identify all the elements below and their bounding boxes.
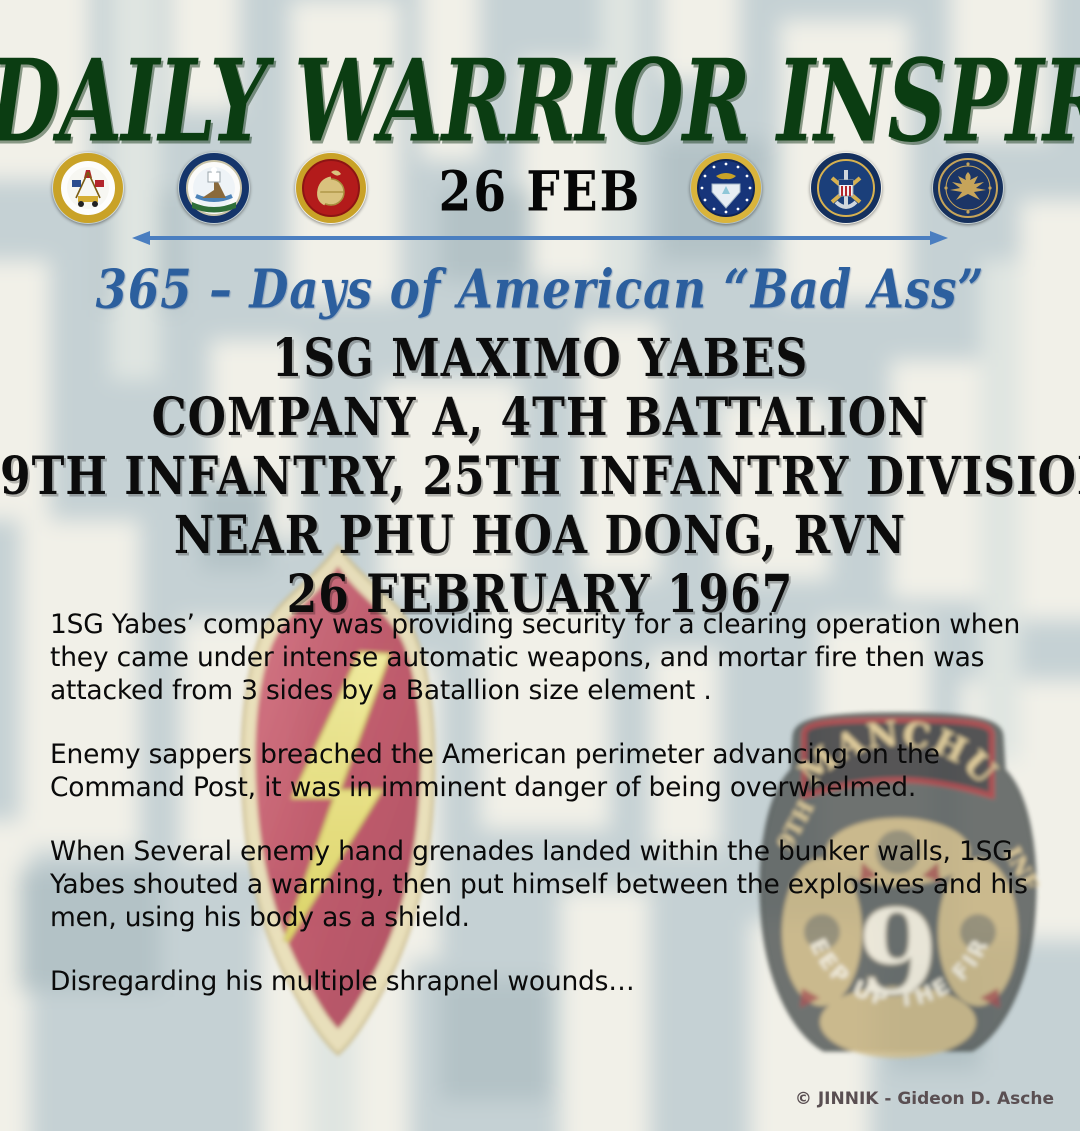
narrative-paragraph-3: When Several enemy hand grenades landed … [50,835,1050,934]
honoree-line-name: 1SG MAXIMO YABES [0,330,1080,389]
divider-double-arrow [132,228,948,248]
honoree-line-location: NEAR PHU HOA DONG, RVN [0,507,1080,566]
date-label: 26 FEB [0,160,1080,225]
page-title: DAILY WARRIOR INSPIRATION [0,44,1080,158]
honoree-line-division: 9TH INFANTRY, 25TH INFANTRY DIVISION [0,448,1080,507]
subtitle-series: 365 – Days of American “Bad Ass” [0,258,1080,321]
narrative-body: 1SG Yabes’ company was providing securit… [50,608,1050,998]
narrative-paragraph-4: Disregarding his multiple shrapnel wound… [50,965,1050,998]
honoree-line-company: COMPANY A, 4TH BATTALION [0,389,1080,448]
poster-canvas: MANCHU 9TH INF [0,0,1080,1131]
honoree-details: 1SG MAXIMO YABES COMPANY A, 4TH BATTALIO… [0,330,1080,625]
copyright-credit: © JINNIK - Gideon D. Asche [795,1089,1054,1109]
narrative-paragraph-2: Enemy sappers breached the American peri… [50,738,1050,804]
narrative-paragraph-1: 1SG Yabes’ company was providing securit… [50,608,1050,707]
